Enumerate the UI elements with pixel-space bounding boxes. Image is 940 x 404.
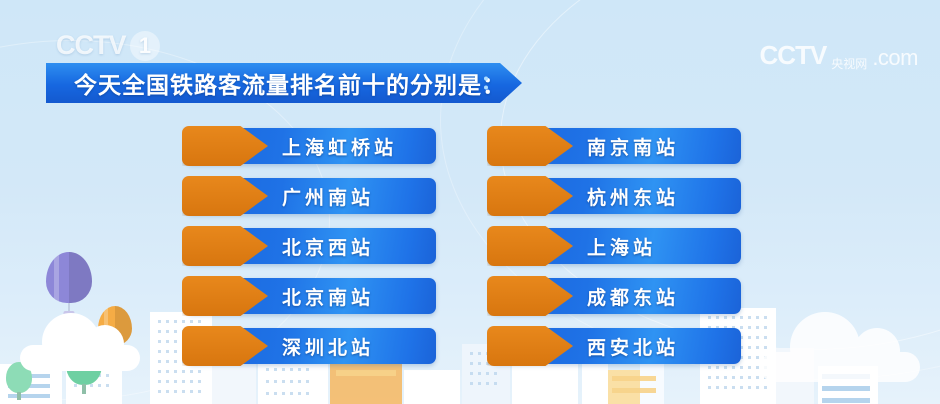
rank-arrow-icon — [182, 126, 268, 166]
rank-arrow-icon — [487, 326, 573, 366]
list-item[interactable]: 西安北站 — [491, 328, 741, 364]
cloud-icon — [760, 352, 920, 382]
rank-arrow-icon — [182, 326, 268, 366]
rank-arrow-icon — [487, 226, 573, 266]
rank-arrow-icon — [487, 276, 573, 316]
station-name: 南京南站 — [587, 133, 679, 160]
list-item[interactable]: 北京南站 — [186, 278, 436, 314]
broadcast-graphic: CCTV 1 CCTV 央视网 .com 今天全国铁路客流量排名前十的分别是： … — [0, 0, 940, 404]
list-item[interactable]: 深圳北站 — [186, 328, 436, 364]
station-name: 广州南站 — [282, 183, 374, 210]
list-item[interactable]: 成都东站 — [491, 278, 741, 314]
station-name: 成都东站 — [587, 283, 679, 310]
station-ranking-list: 上海虹桥站 南京南站 广州南站 杭州东站 北京西站 上海站 北京南站 成 — [186, 128, 766, 364]
rank-arrow-icon — [182, 176, 268, 216]
rank-arrow-icon — [182, 276, 268, 316]
station-name: 深圳北站 — [282, 333, 374, 360]
cloud-icon — [20, 345, 140, 371]
list-item[interactable]: 北京西站 — [186, 228, 436, 264]
list-item[interactable]: 上海站 — [491, 228, 741, 264]
station-name: 杭州东站 — [587, 183, 679, 210]
page-title: 今天全国铁路客流量排名前十的分别是： — [74, 66, 506, 100]
rank-arrow-icon — [487, 176, 573, 216]
rank-arrow-icon — [487, 126, 573, 166]
rank-arrow-icon — [182, 226, 268, 266]
list-item[interactable]: 上海虹桥站 — [186, 128, 436, 164]
station-name: 北京西站 — [282, 233, 374, 260]
hot-air-balloon-icon — [46, 252, 92, 318]
list-item[interactable]: 广州南站 — [186, 178, 436, 214]
list-item[interactable]: 南京南站 — [491, 128, 741, 164]
banner-dots-icon — [484, 77, 488, 90]
station-name: 西安北站 — [587, 333, 679, 360]
headline-banner: 今天全国铁路客流量排名前十的分别是： — [46, 63, 522, 103]
station-name: 上海站 — [587, 233, 656, 260]
station-name: 上海虹桥站 — [282, 133, 397, 160]
station-name: 北京南站 — [282, 283, 374, 310]
list-item[interactable]: 杭州东站 — [491, 178, 741, 214]
